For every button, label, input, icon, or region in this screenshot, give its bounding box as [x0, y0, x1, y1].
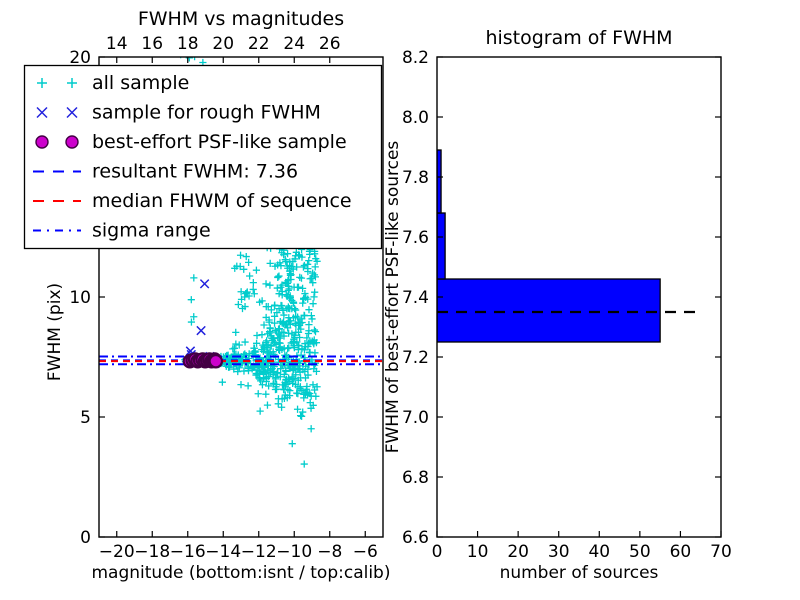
histogram-bar — [437, 213, 445, 279]
left-top-ticklabel: 18 — [177, 34, 199, 54]
matplotlib-figure: FWHM vs magnitudes −20−18−16−14−12−10−8−… — [0, 0, 800, 600]
left-bottom-ticklabel: −18 — [134, 542, 170, 562]
right-y-ticklabel: 7.8 — [402, 168, 429, 188]
right-y-ticklabel: 7.0 — [402, 408, 429, 428]
right-panel-title: histogram of FWHM — [485, 27, 672, 49]
left-top-ticklabel: 14 — [106, 34, 128, 54]
right-y-ticklabel: 6.6 — [402, 528, 429, 548]
histogram-bar — [437, 279, 660, 342]
right-bottom-ticklabel: 70 — [710, 542, 732, 562]
left-y-ticklabel: 5 — [80, 408, 91, 428]
right-bottom-ticklabel: 60 — [670, 542, 692, 562]
figure-canvas: FWHM vs magnitudes −20−18−16−14−12−10−8−… — [0, 0, 800, 600]
left-bottom-ticklabel: −8 — [317, 542, 342, 562]
legend-item-label: sample for rough FWHM — [92, 102, 321, 124]
psf-like-marker — [210, 355, 222, 367]
legend-item-label: best-effort PSF-like sample — [92, 131, 347, 153]
right-y-ticklabel: 8.0 — [402, 108, 429, 128]
right-y-ticklabel: 7.4 — [402, 288, 429, 308]
left-bottom-ticklabel: −6 — [353, 542, 378, 562]
left-top-ticklabel: 26 — [319, 34, 341, 54]
legend-item-label: resultant FWHM: 7.36 — [92, 161, 298, 183]
right-bottom-ticklabel: 50 — [629, 542, 651, 562]
filled-circle-icon — [66, 136, 78, 148]
right-bottom-ticklabel: 10 — [467, 542, 489, 562]
left-bottom-ticklabel: −14 — [205, 542, 241, 562]
left-yaxis-label: FWHM (pix) — [45, 283, 65, 381]
left-bottom-ticklabel: −12 — [241, 542, 277, 562]
left-y-ticklabel: 10 — [69, 288, 91, 308]
right-y-ticklabel: 6.8 — [402, 468, 429, 488]
right-bottom-ticklabel: 20 — [507, 542, 529, 562]
left-top-ticklabel: 22 — [248, 34, 270, 54]
legend: all samplesample for rough FWHMbest-effo… — [25, 66, 382, 249]
right-bottom-ticklabel: 30 — [548, 542, 570, 562]
right-xaxis-label: number of sources — [500, 563, 659, 583]
left-top-ticklabel: 20 — [212, 34, 234, 54]
left-panel-title: FWHM vs magnitudes — [138, 8, 344, 30]
left-xaxis-label: magnitude (bottom:isnt / top:calib) — [92, 563, 391, 583]
left-bottom-ticklabel: −10 — [276, 542, 312, 562]
filled-circle-icon — [36, 136, 48, 148]
left-top-ticklabel: 24 — [283, 34, 305, 54]
legend-item-label: sigma range — [92, 220, 211, 242]
right-y-ticklabel: 8.2 — [402, 48, 429, 68]
left-bottom-ticklabel: −20 — [99, 542, 135, 562]
legend-item-label: all sample — [92, 72, 189, 94]
right-yaxis-label: FWHM of best-effort PSF-like sources — [383, 141, 403, 454]
right-y-ticklabel: 7.6 — [402, 228, 429, 248]
right-bottom-ticklabel: 0 — [432, 542, 443, 562]
left-top-ticklabel: 16 — [141, 34, 163, 54]
right-y-ticklabel: 7.2 — [402, 348, 429, 368]
legend-item-label: median FHWM of sequence — [92, 190, 352, 212]
right-bottom-ticklabel: 40 — [588, 542, 610, 562]
left-bottom-ticklabel: −16 — [170, 542, 206, 562]
left-y-ticklabel: 0 — [80, 528, 91, 548]
